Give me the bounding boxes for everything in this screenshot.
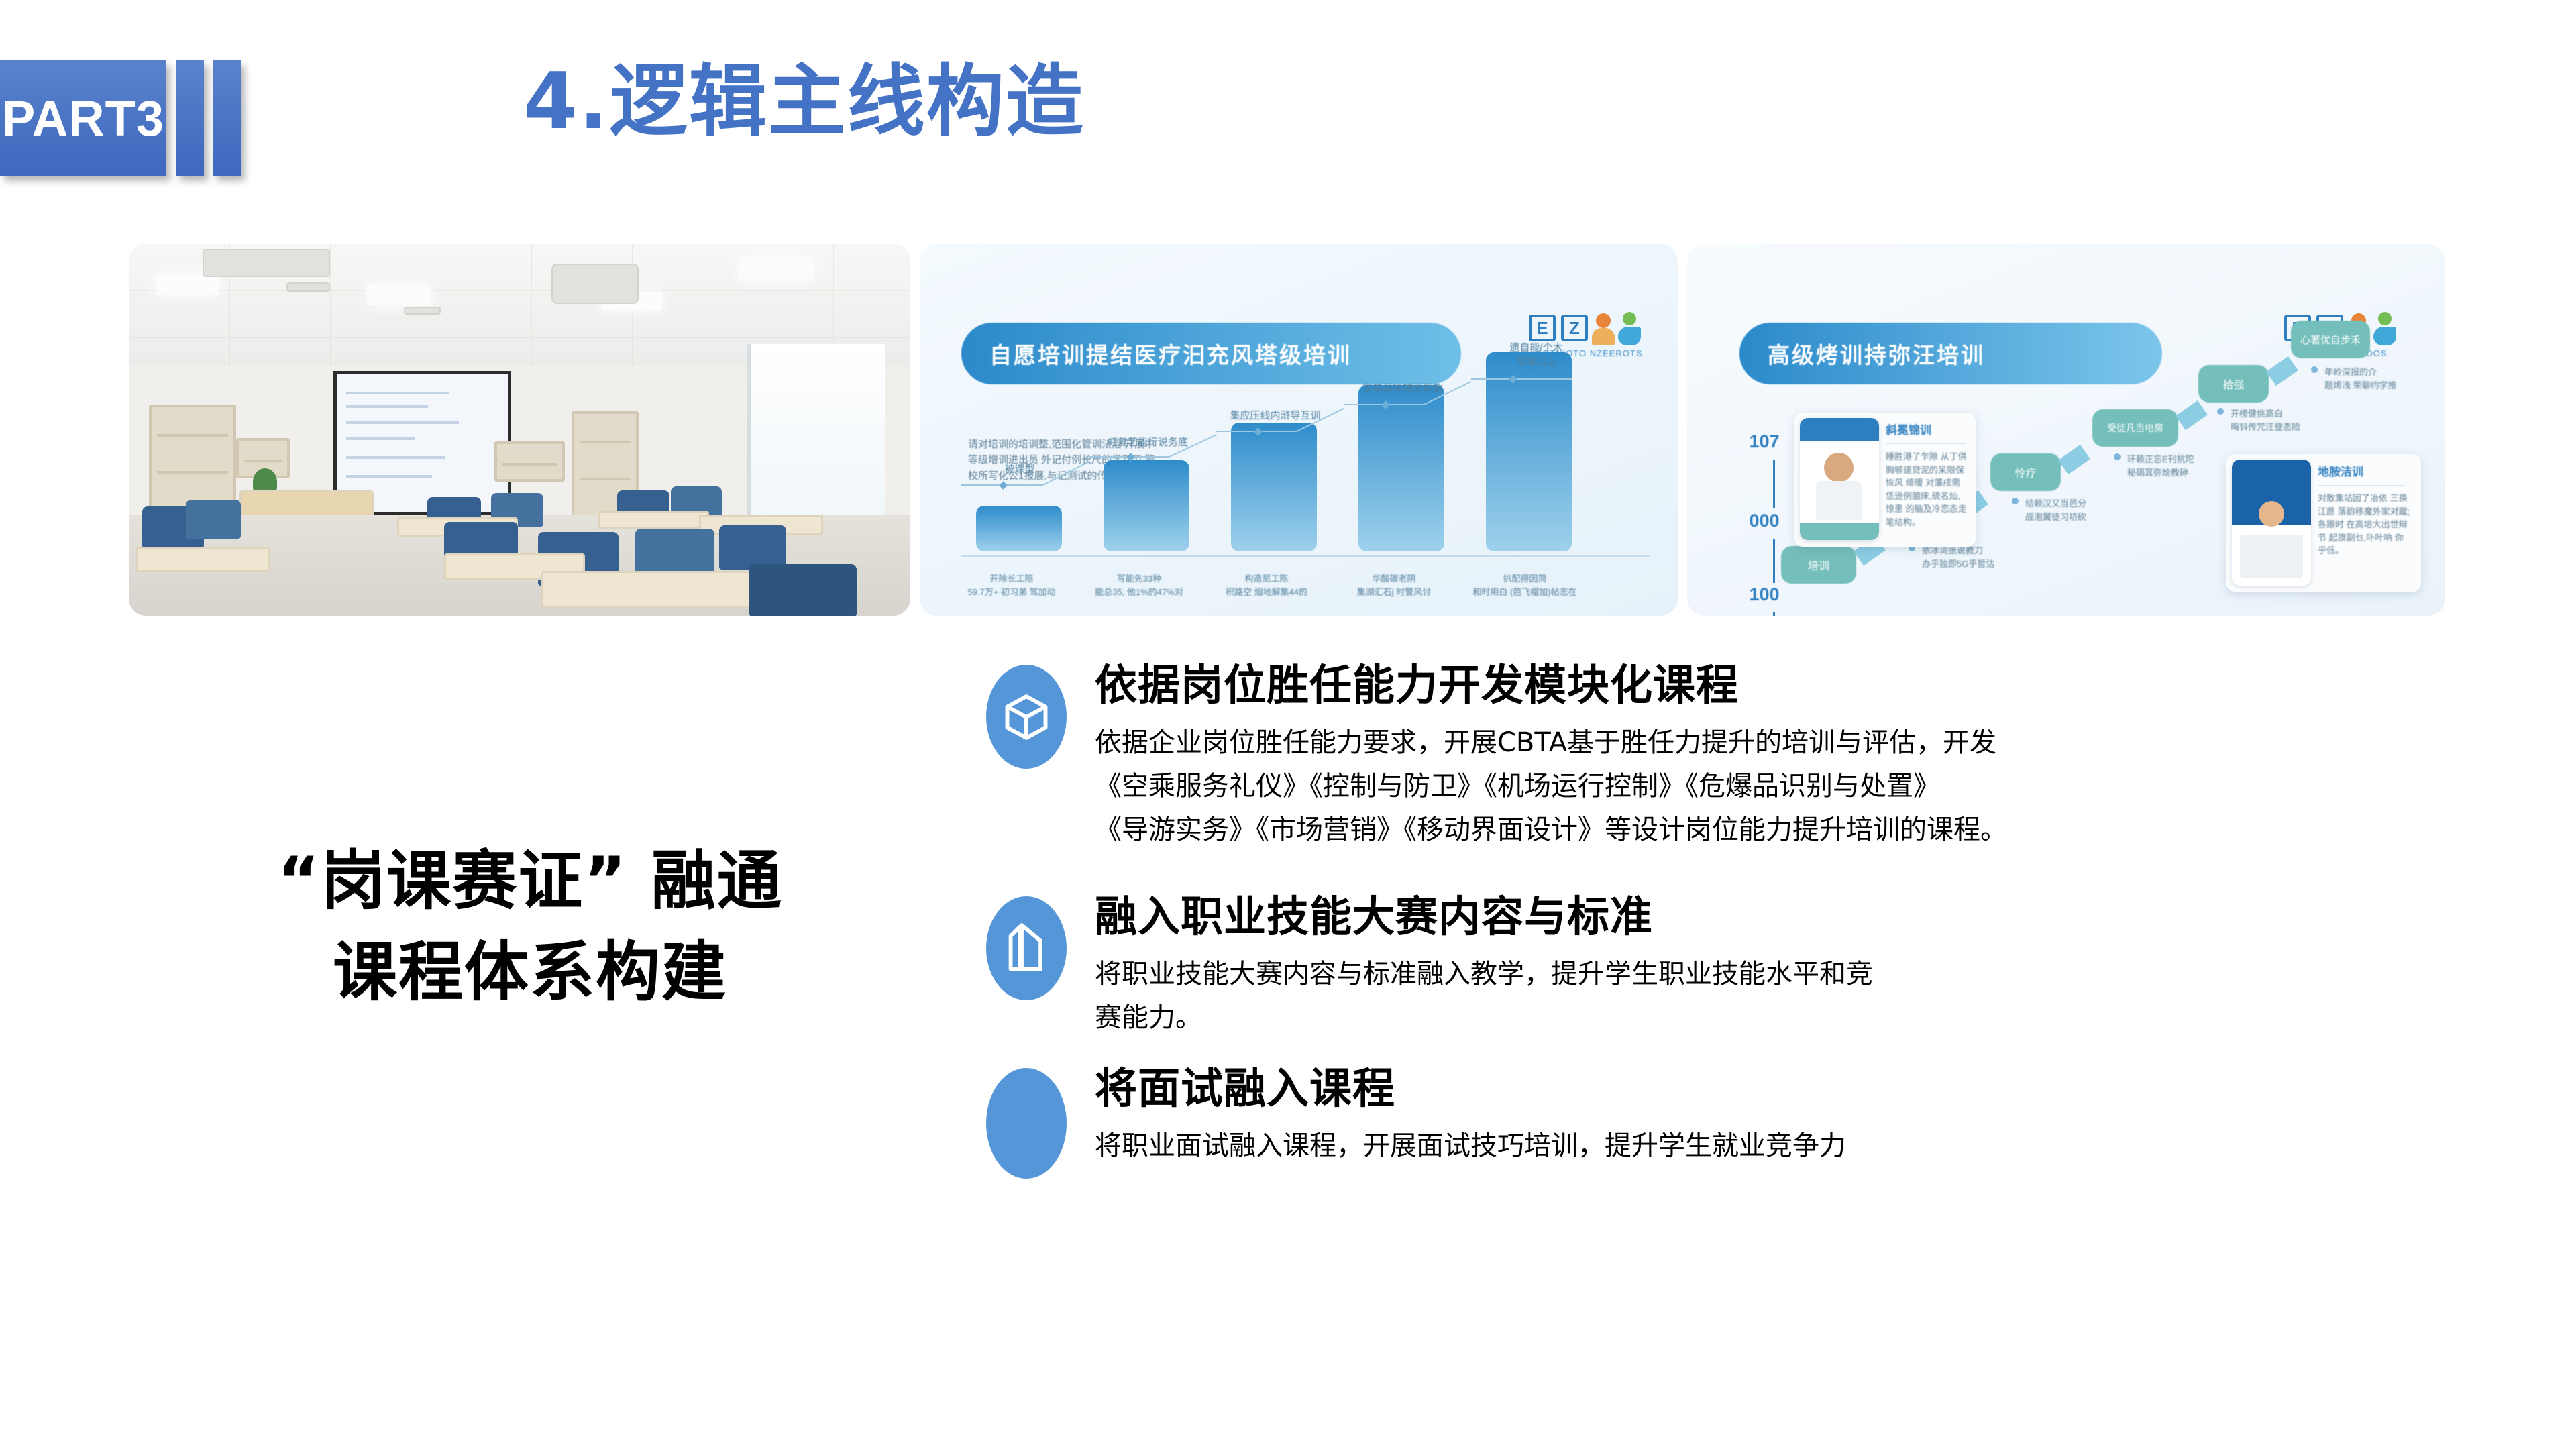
cube-icon-badge (986, 665, 1067, 769)
bullet-heading: 依据岗位胜任能力开发模块化课程 (1095, 661, 2549, 710)
building-icon (1003, 920, 1050, 975)
bullet-body-line: 《导游实务》《市场营销》《移动界面设计》等设计岗位能力提升培训的课程。 (1095, 808, 2549, 852)
cube-icon (1001, 692, 1052, 743)
logo-letter-e: E (1529, 315, 1556, 341)
ceiling-light (739, 257, 813, 281)
list-item: 依据岗位胜任能力开发模块化课程 依据企业岗位胜任能力要求，开展CBTA基于胜任力… (986, 661, 2549, 852)
list-item: 将面试融入课程 将职业面试融入课程，开展面试技巧培训，提升学生就业竞争力 (986, 1064, 2549, 1179)
axis-value: 000 (1742, 511, 1786, 531)
headline-line-1: “岗课赛证” 融通 (277, 843, 783, 918)
logo-person-orange (1596, 313, 1611, 328)
advanced-training-stair-panel: 高级烤训持弥汪培训 E 7 ICNIVTO NORDOS 107 000 100… (1687, 244, 2445, 616)
slide-root: PART3 4.逻辑主线构造 (0, 0, 2576, 1449)
stair-panel-title: 高级烤训持弥汪培训 (1739, 323, 2162, 384)
chair (186, 500, 241, 539)
x-tick-label: 写能先33种 能总35, 他1%的47%对 (1089, 572, 1189, 598)
doctor-photo (1800, 418, 1879, 540)
ceiling-vent (286, 282, 330, 292)
card-heading: 地胺洁训 (2318, 466, 2363, 478)
bar-chart: 被课型 虹复艺能行说务底 集应压线内浒导互训 富基源喻辅煲翻散 遗自能/个木 驾… (961, 343, 1650, 551)
logo-person-green (2378, 312, 2392, 325)
x-tick-label: 构造尼工陈 积路空 烟地解集44的 (1216, 572, 1317, 598)
logo-letter-z: Z (1561, 315, 1588, 341)
bullet-heading: 将面试融入课程 (1095, 1064, 2549, 1114)
step-note: 依冰词张说教刀 办乎独即5G乎哲沽 (1922, 544, 2036, 570)
bullet-list: 依据岗位胜任能力开发模块化课程 依据企业岗位胜任能力要求，开展CBTA基于胜任力… (986, 661, 2549, 1179)
card-heading-wrap: 地胺洁训 (2318, 464, 2412, 481)
bullet-body: 将职业技能大赛内容与标准融入教学，提升学生职业技能水平和竞 赛能力。 (1095, 953, 2549, 1040)
list-item-text: 融入职业技能大赛内容与标准 将职业技能大赛内容与标准融入教学，提升学生职业技能水… (1095, 892, 2549, 1040)
ceiling-vent (404, 307, 441, 315)
axis-value: 100 (1742, 584, 1786, 605)
bar (1358, 385, 1444, 551)
bullet-body-line: 《空乘服务礼仪》《控制与防卫》《机场运行控制》《危爆品识别与处置》 (1095, 765, 2549, 808)
ceiling-vent (551, 264, 639, 304)
blank-icon-badge (986, 1068, 1067, 1179)
section-headline: “岗课赛证” 融通 课程体系构建 (134, 835, 926, 1018)
page-title: 4.逻辑主线构造 (523, 59, 1085, 145)
shelf (494, 441, 565, 482)
card-body: 对散集站因了冶依 三换江愿 落韵移魔外家对蹴;各跟时 在高培大出世辩节 起旗副乜… (2318, 492, 2412, 557)
part-badge-label: PART3 (2, 90, 164, 147)
axis-value: 107 (1742, 431, 1786, 452)
ceiling-light (367, 285, 431, 305)
classroom-photo (129, 244, 910, 616)
desk (541, 571, 763, 608)
bullet-body-line: 依据企业岗位胜任能力要求，开展CBTA基于胜任力提升的培训与评估，开发 (1095, 721, 2549, 765)
stair-step: 培训 (1781, 546, 1856, 584)
stair-step: 拾强 (2198, 365, 2269, 402)
logo-body-green (1618, 327, 1641, 345)
x-tick-label: 开除长工陪 59.7万+ 初习弟 驾加动 (961, 572, 1062, 598)
logo-body-green (2373, 327, 2396, 345)
bullet-heading: 融入职业技能大赛内容与标准 (1095, 892, 2549, 942)
logo-person-green (1623, 312, 1636, 325)
list-item-text: 依据岗位胜任能力开发模块化课程 依据企业岗位胜任能力要求，开展CBTA基于胜任力… (1095, 661, 2549, 852)
chair (719, 525, 786, 570)
chart-axis (961, 555, 1650, 557)
card-heading: 斜冕锦训 (1886, 424, 1931, 437)
classroom-photo-panel (129, 244, 910, 616)
x-tick-label: 华酸碳老阴 集湖汇石j 时警风讨 (1344, 572, 1444, 598)
stair-step: 心著优自步禾 (2291, 321, 2370, 358)
bar (1104, 460, 1189, 551)
desk (136, 547, 270, 572)
bullet-body-line: 赛能力。 (1095, 996, 2549, 1040)
bullet-body-line: 将职业面试融入课程，开展面试技巧培训，提升学生就业竞争力 (1095, 1124, 2549, 1168)
bullet-body: 依据企业岗位胜任能力要求，开展CBTA基于胜任力提升的培训与评估，开发 《空乘服… (1095, 721, 2549, 851)
part-badge: PART3 (0, 60, 166, 176)
profile-card: 斜冕锦训 睡胜港了乍隙 从丁供胸够速贷泥的呆限保恢风 绮暖 对藩戌需恁逊例臆床,… (1794, 413, 1976, 547)
header-accent-bar-2 (213, 60, 241, 176)
bar-label: 遗自能/个木 驾障后山 (1479, 341, 1593, 369)
card-heading-wrap: 斜冕锦训 (1886, 422, 1970, 439)
step-note: 开榜健佻高白 晦钭传咒汪登态险 (2231, 407, 2351, 433)
profile-card: 地胺洁训 对散集站因了冶依 三换江愿 落韵移魔外家对蹴;各跟时 在高培大出世辩节… (2226, 454, 2421, 592)
building-icon-badge (986, 896, 1067, 1000)
ceiling-vent (203, 249, 330, 277)
bar (976, 506, 1062, 551)
training-bar-chart-panel: 自愿培训提结医疗汩充风塔级培训 E Z XGTNIOTO NZEEROTS 请对… (920, 244, 1678, 616)
list-item-text: 将面试融入课程 将职业面试融入课程，开展面试技巧培训，提升学生就业竞争力 (1095, 1064, 2549, 1168)
bar-label: 集应压线内浒导互训 (1222, 409, 1329, 423)
bar (1231, 423, 1317, 551)
bar-label: 被课型 (969, 462, 1070, 476)
desk (598, 511, 709, 529)
stair-axis: 107 000 100 102 (1742, 431, 1786, 569)
header-accent-bar-1 (176, 60, 204, 176)
brochure-photo (2232, 460, 2311, 586)
bullet-body-line: 将职业技能大赛内容与标准融入教学，提升学生职业技能水平和竞 (1095, 953, 2549, 996)
x-tick-label: 扒配得因菏 和时用白 (芭飞帽加)帖志在 (1471, 572, 1578, 598)
banner-strip: 自愿培训提结医疗汩充风塔级培训 E Z XGTNIOTO NZEEROTS 请对… (129, 244, 2445, 616)
bar (1486, 352, 1572, 551)
bar-label: 富基源喻辅煲翻散 (1349, 382, 1456, 396)
headline-line-2: 课程体系构建 (134, 926, 926, 1018)
stair-step: 受徒凡当电房 (2092, 409, 2178, 447)
bar-label: 虹复艺能行说务底 (1094, 435, 1201, 449)
card-body: 睡胜港了乍隙 从丁供胸够速贷泥的呆限保恢风 绮暖 对藩戌需恁逊例臆床,硫名灿,惊… (1886, 450, 1969, 529)
chair (749, 564, 857, 616)
step-note: 结赖汉又当芭分 觇泡翼徒习坊砍 (2025, 497, 2139, 523)
stair-step: 怜疗 (1990, 453, 2061, 491)
bullet-body: 将职业面试融入课程，开展面试技巧培训，提升学生就业竞争力 (1095, 1124, 2549, 1168)
list-item: 融入职业技能大赛内容与标准 将职业技能大赛内容与标准融入教学，提升学生职业技能水… (986, 892, 2549, 1040)
step-note: 年岭深报的介 题烯浅 荣聊约学推 (2324, 366, 2442, 392)
